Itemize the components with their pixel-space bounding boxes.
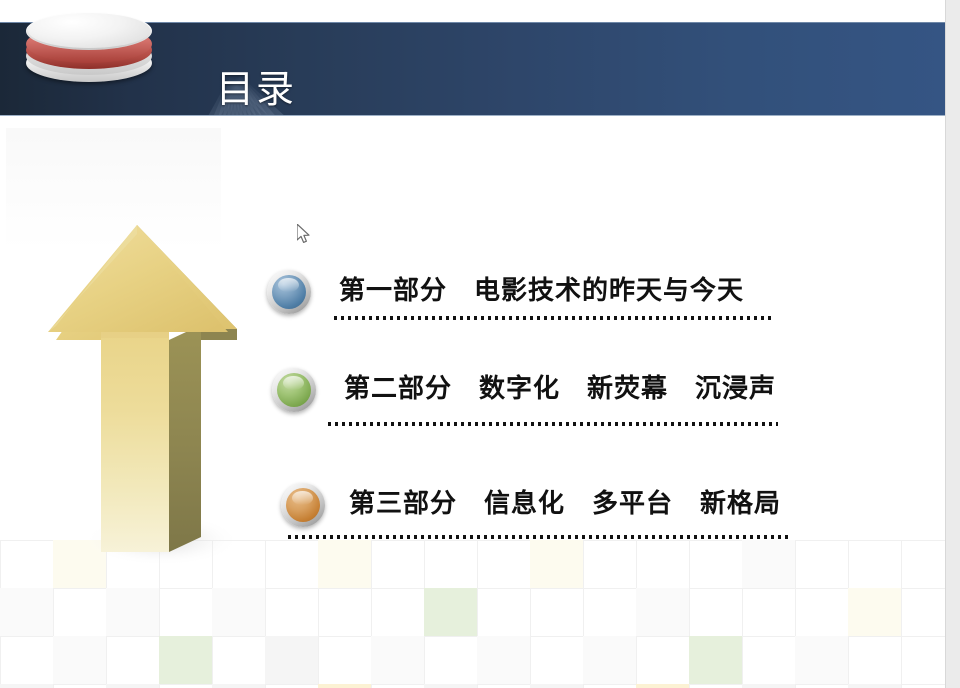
checker-cell	[742, 684, 795, 688]
checker-cell	[53, 636, 106, 684]
checker-cell	[371, 636, 424, 684]
toc-item-1-dotted-rule	[334, 316, 774, 320]
logo-disc-top	[26, 12, 152, 50]
checker-cell	[318, 540, 371, 588]
checker-cell	[848, 588, 901, 636]
checker-cell	[424, 684, 477, 688]
checker-cell	[689, 636, 742, 684]
checker-cell	[106, 684, 159, 688]
checker-cell	[212, 588, 265, 636]
checker-cell	[848, 684, 901, 688]
checker-cell	[0, 588, 53, 636]
checker-cell	[742, 540, 795, 588]
checker-cell	[477, 636, 530, 684]
page-title: 目录	[216, 66, 296, 114]
checker-cell	[265, 636, 318, 684]
checker-cell	[318, 684, 371, 688]
mouse-pointer-icon	[297, 224, 313, 246]
toc-item-3-dotted-rule	[288, 535, 790, 539]
orange-orb-bullet-icon	[281, 483, 325, 527]
checker-cell	[106, 588, 159, 636]
checker-cell	[530, 684, 583, 688]
logo-disc-top-face	[28, 13, 150, 48]
blue-orb-inner	[272, 275, 306, 309]
viewer-right-edge	[945, 0, 960, 688]
presentation-viewer: 目录	[0, 0, 960, 688]
toc-item-2-dotted-rule	[328, 422, 778, 426]
checker-cell	[212, 684, 265, 688]
toc-item-2-label: 第二部分 数字化 新荧幕 沉浸声	[344, 366, 776, 412]
checker-cell	[636, 684, 689, 688]
toc-item-3-label: 第三部分 信息化 多平台 新格局	[349, 481, 781, 527]
checker-cell	[795, 636, 848, 684]
green-orb-inner	[277, 373, 311, 407]
up-arrow-3d-icon	[44, 222, 259, 567]
blue-orb-bullet-icon	[267, 270, 311, 314]
checker-cell	[424, 588, 477, 636]
checker-cell	[583, 636, 636, 684]
green-orb-bullet-icon	[272, 368, 316, 412]
checker-cell	[159, 636, 212, 684]
slide-canvas[interactable]: 目录	[0, 0, 945, 688]
stacked-discs-logo-icon	[26, 12, 160, 88]
checker-cell	[636, 588, 689, 636]
orange-orb-inner	[286, 488, 320, 522]
checker-cell	[530, 540, 583, 588]
checker-cell	[0, 684, 53, 688]
toc-item-1-label: 第一部分 电影技术的昨天与今天	[339, 268, 744, 314]
